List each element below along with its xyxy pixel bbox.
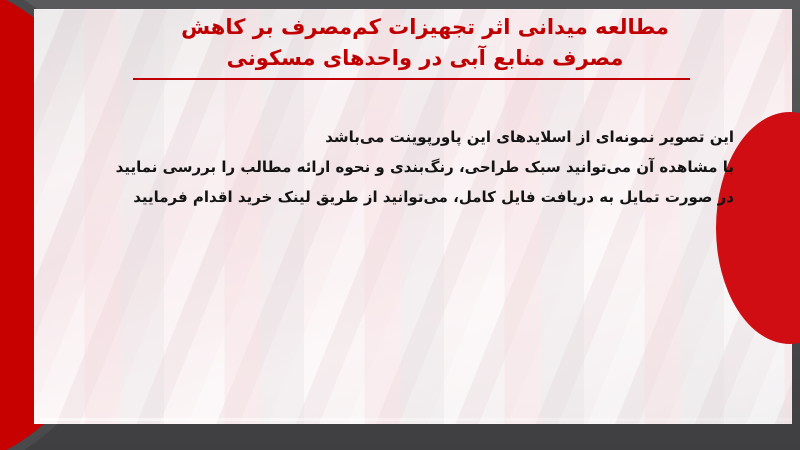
slide-title-line-1: مطالعه میدانی اثر تجهیزات کم‌مصرف بر کاه… [110,12,740,43]
presentation-slide: مطالعه میدانی اثر تجهیزات کم‌مصرف بر کاه… [0,0,800,450]
title-underline-rule [133,78,690,80]
panel-bottom-edge [40,418,792,421]
slide-body-line-3: در صورت تمایل به دریافت فایل کامل، می‌تو… [120,182,734,212]
slide-body-text: این تصویر نمونه‌ای از اسلایدهای این پاور… [120,122,734,212]
slide-body-line-1: این تصویر نمونه‌ای از اسلایدهای این پاور… [120,122,734,152]
slide-body-line-2: با مشاهده آن می‌توانید سبک طراحی، رنگ‌بن… [120,152,734,182]
slide-title-line-2: مصرف منابع آبی در واحدهای مسکونی [110,43,740,74]
slide-title: مطالعه میدانی اثر تجهیزات کم‌مصرف بر کاه… [110,12,740,74]
